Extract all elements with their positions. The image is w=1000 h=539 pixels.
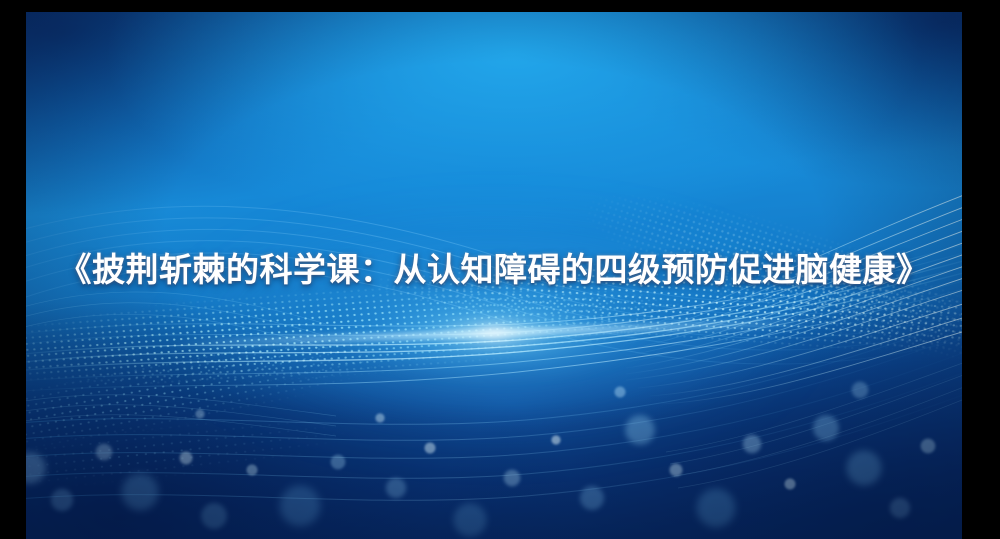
slide-title: 《披荆斩棘的科学课：从认知障碍的四级预防促进脑健康》 <box>59 250 930 290</box>
slide-title-block: 《披荆斩棘的科学课：从认知障碍的四级预防促进脑健康》 <box>26 250 962 290</box>
screenshot-root: 《披荆斩棘的科学课：从认知障碍的四级预防促进脑健康》 <box>0 0 1000 539</box>
video-frame: 《披荆斩棘的科学课：从认知障碍的四级预防促进脑健康》 <box>26 12 962 539</box>
